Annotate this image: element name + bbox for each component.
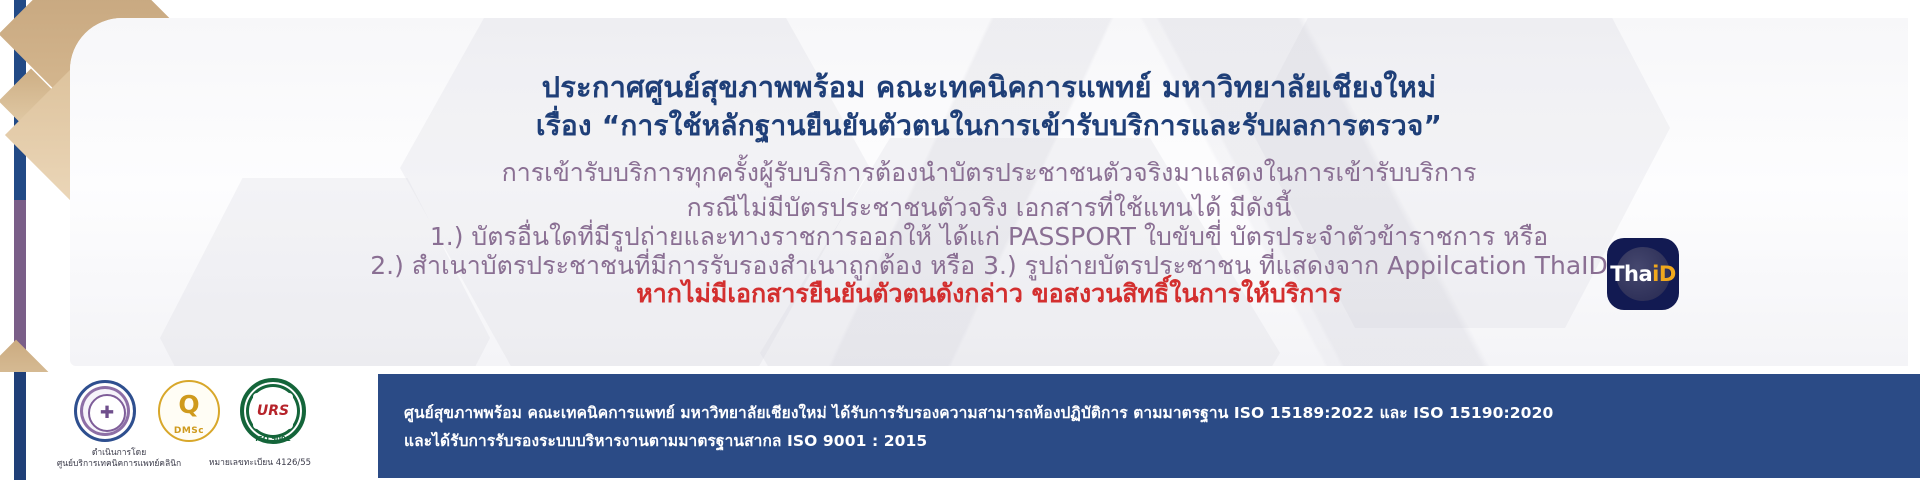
iso-banner-line2: และได้รับการรับรองระบบบริหารงานตามมาตรฐา…	[404, 428, 927, 453]
announcement-text: ประกาศศูนย์สุขภาพพร้อม คณะเทคนิคการแพทย์…	[70, 18, 1908, 366]
iso-certification-banner: ศูนย์สุขภาพพร้อม คณะเทคนิคการแพทย์ มหาวิ…	[378, 374, 1920, 478]
announcement-body-line1: การเข้ารับบริการทุกครั้งผู้รับบริการต้อง…	[70, 153, 1908, 193]
accreditation-logos: ✚ Q DMSc URS ISO 9001 ดำเนินการโดย ศูนย์…	[62, 374, 362, 478]
thaid-wordmark-primary: Tha	[1610, 262, 1652, 286]
iso-banner-line1: ศูนย์สุขภาพพร้อม คณะเทคนิคการแพทย์ มหาวิ…	[404, 400, 1553, 425]
thaid-app-icon: ThaiD	[1607, 238, 1679, 310]
seal-inner: ✚	[88, 394, 126, 432]
urs-label: URS	[253, 393, 293, 429]
thaid-wordmark-secondary: iD	[1652, 262, 1676, 286]
dmsc-label: DMSc	[158, 426, 220, 436]
dmsc-quality-seal-icon: Q DMSc	[158, 380, 220, 442]
caduceus-icon: ✚	[90, 396, 124, 430]
clinic-accreditation-seal-icon: ✚	[74, 380, 136, 442]
q-letter-icon: Q	[158, 384, 220, 424]
logo-caption-mid: หมายเลขทะเบียน 4126/55	[190, 458, 330, 469]
thaid-wordmark: ThaiD	[1607, 238, 1679, 310]
announcement-banner: ประกาศศูนย์สุขภาพพร้อม คณะเทคนิคการแพทย์…	[0, 0, 1920, 480]
urs-iso9001-seal-icon: URS ISO 9001	[240, 378, 306, 444]
announcement-title-line2: เรื่อง “การใช้หลักฐานยืนยันตัวตนในการเข้…	[70, 104, 1908, 148]
footer: ✚ Q DMSc URS ISO 9001 ดำเนินการโดย ศูนย์…	[0, 372, 1920, 480]
iso9001-label: ISO 9001	[240, 435, 306, 443]
